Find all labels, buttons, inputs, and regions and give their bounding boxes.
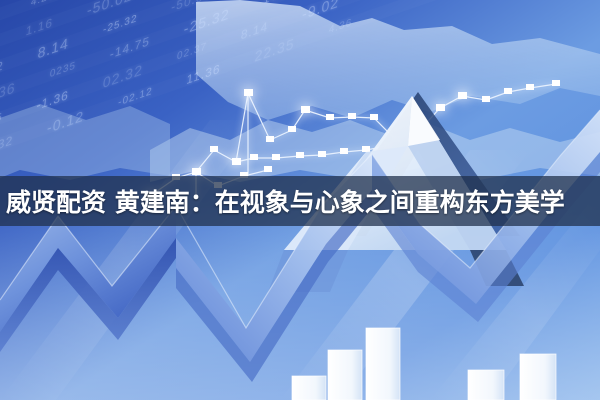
title-band: 威贤配资 黄建南：在视象与心象之间重构东方美学 xyxy=(0,176,600,226)
page-title: 威贤配资 黄建南：在视象与心象之间重构东方美学 xyxy=(6,183,565,219)
bar-4 xyxy=(468,370,504,400)
bar-1 xyxy=(292,376,326,400)
bar-2 xyxy=(328,350,362,400)
banner-image: -3.752.36-09.33-11.2545.0221.06-1.251.25… xyxy=(0,0,600,400)
bar-5 xyxy=(520,354,556,400)
bar-3 xyxy=(366,328,400,400)
